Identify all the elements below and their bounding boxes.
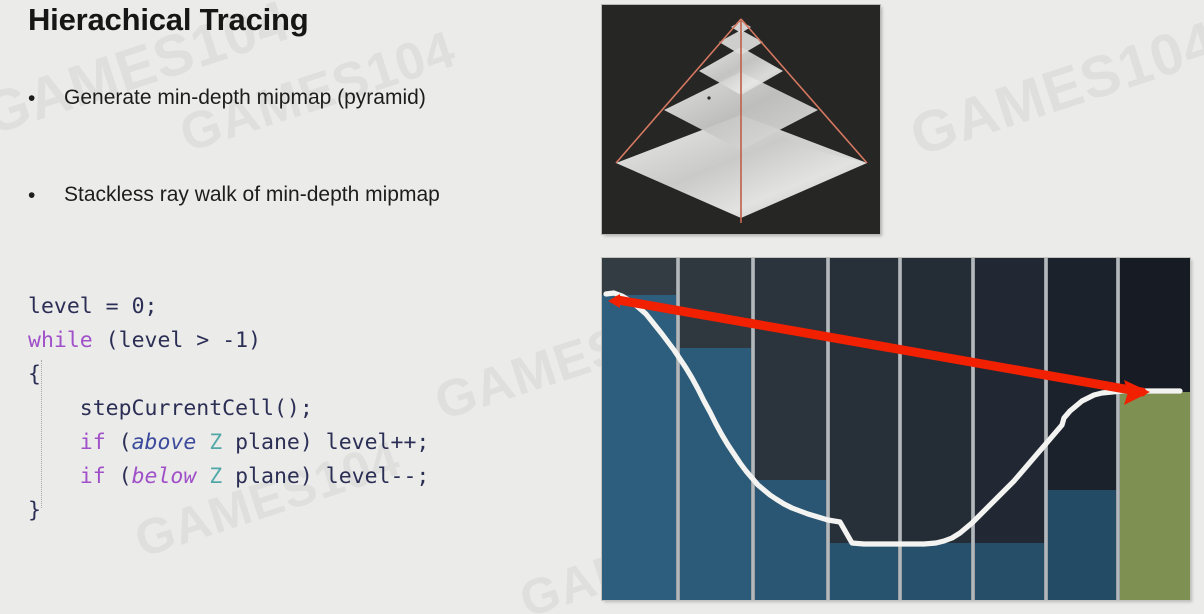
code-token: Z — [209, 464, 222, 489]
code-line-7: } — [28, 494, 429, 528]
code-block: level = 0;while (level > -1){ stepCurren… — [28, 290, 429, 528]
bar-cell-2 — [678, 348, 753, 600]
bullet-marker-icon: • — [28, 86, 64, 109]
code-token: ( — [93, 328, 119, 353]
code-line-2: while (level > -1) — [28, 324, 429, 358]
code-token: = — [93, 294, 132, 319]
code-token: if — [80, 430, 106, 455]
hiz-ray-walk-figure — [602, 258, 1190, 600]
page-title: Hierachical Tracing — [28, 2, 309, 38]
code-token: level — [28, 294, 93, 319]
hiz-illustration — [602, 258, 1190, 600]
bar-cell-4 — [828, 543, 900, 600]
code-token — [196, 464, 209, 489]
code-token: ; — [145, 294, 158, 319]
bullet-item-1: • Generate min-depth mipmap (pyramid) — [28, 86, 426, 110]
code-token: plane — [222, 430, 300, 455]
indent-guide-line — [41, 360, 42, 508]
code-token: level — [326, 430, 391, 455]
code-line-6: if (below Z plane) level--; — [28, 460, 429, 494]
code-token: ) — [248, 328, 261, 353]
code-token: below — [132, 464, 197, 489]
code-token: ) — [300, 430, 326, 455]
bullet-text-2: Stackless ray walk of min-depth mipmap — [64, 183, 440, 207]
code-token: } — [28, 498, 41, 523]
code-token: ( — [106, 464, 132, 489]
code-token: above — [132, 430, 197, 455]
bar-cell-5 — [900, 543, 973, 600]
code-token: ++; — [391, 430, 430, 455]
code-token: while — [28, 328, 93, 353]
code-token: ( — [106, 430, 132, 455]
code-token: > — [183, 328, 222, 353]
code-token — [28, 430, 80, 455]
slide-canvas: GAMES104 GAMES104 GAMES104 GAMES104 GAME… — [0, 0, 1204, 614]
bullet-marker-icon: • — [28, 183, 64, 206]
bar-cell-8-hit — [1118, 392, 1190, 600]
code-line-5: if (above Z plane) level++; — [28, 426, 429, 460]
code-token: 0 — [132, 294, 145, 319]
code-line-3: { — [28, 358, 429, 392]
code-token: stepCurrentCell — [28, 396, 274, 421]
code-token: level — [326, 464, 391, 489]
bullet-item-2: • Stackless ray walk of min-depth mipmap — [28, 183, 440, 207]
bullet-text-1: Generate min-depth mipmap (pyramid) — [64, 86, 426, 110]
code-line-4: stepCurrentCell(); — [28, 392, 429, 426]
code-token: plane — [222, 464, 300, 489]
code-token: --; — [391, 464, 430, 489]
bar-cell-3 — [753, 480, 828, 600]
code-token: (); — [274, 396, 313, 421]
code-token: -1 — [222, 328, 248, 353]
bar-cell-6 — [973, 543, 1046, 600]
code-token: { — [28, 362, 41, 387]
code-token: ) — [300, 464, 326, 489]
code-token: if — [80, 464, 106, 489]
code-token — [196, 430, 209, 455]
mipmap-pyramid-figure — [602, 5, 880, 234]
code-line-1: level = 0; — [28, 290, 429, 324]
watermark: GAMES104 — [902, 8, 1204, 170]
code-token: Z — [209, 430, 222, 455]
pyramid-illustration — [602, 5, 880, 234]
code-token: level — [119, 328, 184, 353]
code-token — [28, 464, 80, 489]
bar-cell-7 — [1046, 490, 1118, 600]
